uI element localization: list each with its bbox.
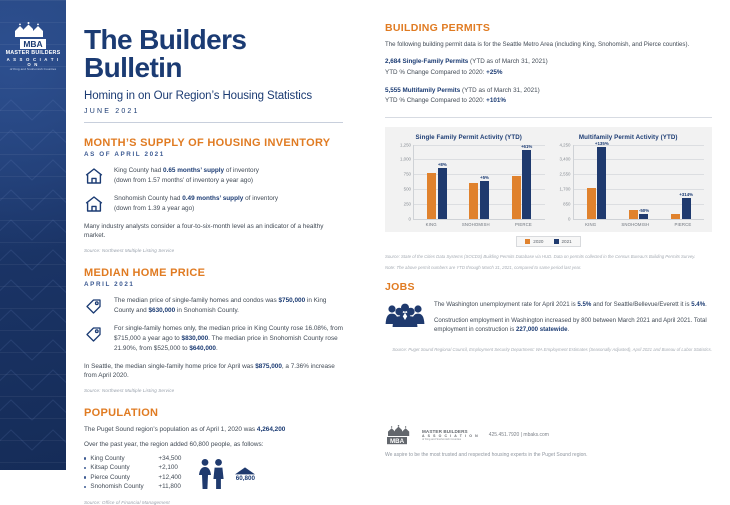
bar-group-king: +135% [587, 145, 607, 219]
brand-rail: MBA MASTER BUILDERS A S S O C I A T I O … [0, 0, 66, 470]
y-axis: 0 250 500 750 1,000 1,250 [393, 145, 413, 219]
jobs-text: The Washington unemployment rate for Apr… [434, 300, 712, 340]
y-tick: 1,700 [560, 187, 571, 192]
median-price-subheading: APRIL 2021 [84, 281, 343, 288]
footer: MBA MASTER BUILDERS A S S O C I A T I O … [385, 425, 712, 458]
page-title: The Builders Bulletin [84, 26, 343, 82]
jobs-p1-a: The Washington unemployment rate for Apr… [434, 301, 577, 308]
issue-date: JUNE 2021 [84, 108, 343, 115]
section-population: POPULATION The Puget Sound region’s popu… [84, 407, 343, 505]
sf-change-value: +25% [486, 69, 502, 76]
bar-2020 [469, 183, 478, 219]
right-page: BUILDING PERMITS The following building … [365, 0, 730, 470]
pop-county-name: King County [90, 455, 158, 462]
jobs-p1-e: . [705, 301, 707, 308]
chart-plot: 0 850 1,700 2,550 3,400 4,250 [553, 145, 705, 219]
y-tick: 0 [409, 216, 411, 221]
bar-2021: +135% [597, 147, 606, 219]
permits-source: Source: State of the Cities Data Systems… [385, 254, 712, 260]
y-tick: 0 [568, 216, 570, 221]
section-inventory: MONTH’S SUPPLY OF HOUSING INVENTORY AS O… [84, 137, 343, 253]
bar-2020 [671, 214, 680, 219]
permits-multifamily-stat: 5,555 Multifamily Permits (YTD as of Mar… [385, 86, 712, 106]
bar-label: +61% [521, 144, 532, 149]
bar-group-pierce: +314% [671, 145, 691, 219]
bar-label: +135% [595, 141, 609, 146]
footer-row: MBA MASTER BUILDERS A S S O C I A T I O … [385, 425, 712, 445]
chart-title: Single Family Permit Activity (YTD) [393, 134, 545, 141]
pop-county-name: Snohomish County [90, 483, 158, 490]
inventory-item: Snohomish County had 0.49 months’ supply… [84, 194, 343, 214]
bar-2021: +8% [438, 168, 447, 219]
median-price-heading: MEDIAN HOME PRICE [84, 267, 343, 279]
permits-single-family-stat: 2,684 Single-Family Permits (YTD as of M… [385, 57, 712, 77]
inventory-heading: MONTH’S SUPPLY OF HOUSING INVENTORY [84, 137, 343, 149]
x-axis: KING SNOHOMISH PIERCE [413, 219, 545, 227]
mp-snoho-sf-value: $640,000 [189, 345, 216, 352]
population-breakdown: King County +34,500 Kitsap County +2,100… [84, 455, 343, 493]
construction-employment-total: 227,000 statewide [516, 326, 568, 333]
pop-county-value: +12,400 [158, 474, 181, 481]
mf-permits-count: 5,555 Multifamily Permits [385, 87, 460, 94]
house-icon [84, 166, 106, 185]
y-tick: 2,550 [560, 172, 571, 177]
footer-logo-sub: of King and Snohomish Counties [422, 438, 479, 441]
plot-area: +135% -50% [573, 145, 705, 219]
legend-box: 2020 2021 [516, 236, 580, 247]
jobs-content: The Washington unemployment rate for Apr… [385, 300, 712, 340]
jobs-p1-c: and for Seattle/Bellevue/Everett it is [591, 301, 691, 308]
inventory-note: Many industry analysts consider a four-t… [84, 222, 343, 241]
jobs-source: Source: Puget Sound Regional Council, Em… [385, 347, 712, 353]
people-icon [197, 458, 227, 490]
bar-label: -50% [639, 208, 649, 213]
inventory-0-line2: (down from 1.57 months’ of inventory a y… [114, 177, 253, 184]
price-tag-icon [84, 324, 106, 342]
bar-group-pierce: +61% [512, 145, 532, 219]
jobs-heading: JOBS [385, 281, 712, 293]
metro-unemployment-rate: 5.4% [691, 301, 705, 308]
x-tick: PIERCE [674, 222, 691, 227]
mountain-icon [234, 466, 256, 475]
section-jobs: JOBS [385, 281, 712, 354]
x-tick: SNOHOMISH [621, 222, 649, 227]
x-tick: PIERCE [515, 222, 532, 227]
roofline-icon [13, 22, 53, 38]
sf-change-label: YTD % Change Compared to 2020: [385, 69, 486, 76]
inventory-1-pre: Snohomish County had [114, 195, 182, 202]
bar-group-container: +135% -50% [574, 145, 705, 219]
permits-heading: BUILDING PERMITS [385, 22, 712, 34]
bar-label: +314% [679, 192, 693, 197]
median-price-item: The median price of single-family homes … [84, 296, 343, 316]
population-county-list: King County +34,500 Kitsap County +2,100… [84, 455, 181, 493]
population-badge: 60,800 [234, 466, 256, 482]
pop-county-value: +2,100 [158, 464, 177, 471]
bar-2020 [512, 176, 521, 218]
y-tick: 1,000 [400, 157, 411, 162]
inventory-1-post: of inventory [243, 195, 278, 202]
y-tick: 1,250 [400, 142, 411, 147]
legend-item-2021: 2021 [554, 239, 572, 244]
population-total-line: The Puget Sound region’s population as o… [84, 425, 343, 435]
permits-note: Note: The above permit numbers are YTD t… [385, 265, 712, 271]
jobs-p2-c: . [567, 326, 569, 333]
permits-intro: The following building permit data is fo… [385, 40, 712, 49]
inventory-0-post: of inventory [224, 167, 259, 174]
inventory-item: King County had 0.65 months’ supply of i… [84, 166, 343, 186]
plot-area: +8% +5% [413, 145, 545, 219]
bar-2021: +61% [522, 150, 531, 219]
legend-label: 2020 [533, 239, 543, 244]
x-tick: KING [426, 222, 437, 227]
list-item: Pierce County +12,400 [84, 474, 181, 481]
price-tag-icon [84, 296, 106, 314]
mp-1a: The median price of single-family homes … [114, 297, 278, 304]
bullet-icon [84, 467, 86, 469]
pop-county-value: +34,500 [158, 455, 181, 462]
population-heading: POPULATION [84, 407, 343, 419]
wa-unemployment-rate: 5.5% [577, 301, 591, 308]
mba-logo-sub: of King and Snohomish Counties [4, 67, 62, 71]
bar-2020 [427, 173, 436, 219]
bar-label: +8% [438, 162, 447, 167]
y-tick: 500 [404, 187, 411, 192]
pop-county-name: Kitsap County [90, 464, 158, 471]
mp-note-a: In Seattle, the median single-family hom… [84, 363, 255, 370]
population-figures: 60,800 [197, 458, 256, 490]
footer-logo-text: MASTER BUILDERS A S S O C I A T I O N of… [422, 429, 479, 441]
bar-group-snohomish: +5% [469, 145, 489, 219]
jobs-unemployment: The Washington unemployment rate for Apr… [434, 300, 712, 309]
bar-label: +5% [480, 175, 489, 180]
x-tick: SNOHOMISH [462, 222, 490, 227]
legend-item-2020: 2020 [525, 239, 543, 244]
footer-contact[interactable]: 425.451.7920 | mbaks.com [489, 432, 549, 438]
inventory-subheading: AS OF APRIL 2021 [84, 151, 343, 158]
page-subtitle: Homing in on Our Region’s Housing Statis… [84, 90, 343, 102]
mba-logo-assoc: A S S O C I A T I O N [4, 57, 62, 67]
mp-1e: in Snohomish County. [175, 307, 239, 314]
x-axis: KING SNOHOMISH PIERCE [573, 219, 705, 227]
bar-2021: +5% [480, 181, 489, 219]
pop-line1-a: The Puget Sound region’s population as o… [84, 426, 257, 433]
sf-permits-count: 2,684 Single-Family Permits [385, 58, 468, 65]
inventory-0-value: 0.65 months’ supply [163, 167, 224, 174]
workers-group-icon [385, 300, 425, 333]
list-item: Snohomish County +11,800 [84, 483, 181, 490]
footer-roofline-icon: MBA [385, 425, 419, 445]
legend-swatch-icon [554, 239, 559, 244]
bullet-icon [84, 486, 86, 488]
bulletin-page: MBA MASTER BUILDERS A S S O C I A T I O … [0, 0, 730, 470]
population-source: Source: Office of Financial Management [84, 500, 343, 505]
inventory-source: Source: Northwest Multiple Listing Servi… [84, 248, 343, 253]
inventory-0-pre: King County had [114, 167, 163, 174]
house-icon [84, 194, 106, 213]
list-item: Kitsap County +2,100 [84, 464, 181, 471]
median-price-item-text: For single-family homes only, the median… [114, 324, 343, 354]
bar-2021: +314% [682, 198, 691, 219]
chart-title: Multifamily Permit Activity (YTD) [553, 134, 705, 141]
permit-charts: Single Family Permit Activity (YTD) 0 25… [385, 127, 712, 232]
bar-group-snohomish: -50% [629, 145, 649, 219]
sf-permits-paren: (YTD as of March 31, 2021) [468, 58, 547, 65]
chart-legend: 2020 2021 [385, 236, 712, 247]
pop-total-value: 4,264,200 [257, 426, 285, 433]
y-axis: 0 850 1,700 2,550 3,400 4,250 [553, 145, 573, 219]
mp-king-value: $750,000 [278, 297, 305, 304]
median-price-item-text: The median price of single-family homes … [114, 296, 343, 316]
mp-king-sf-value: $830,000 [182, 335, 209, 342]
bar-2020 [587, 188, 596, 218]
left-page: MBA MASTER BUILDERS A S S O C I A T I O … [0, 0, 365, 470]
chart-plot: 0 250 500 750 1,000 1,250 [393, 145, 545, 219]
left-content: The Builders Bulletin Homing in on Our R… [66, 0, 365, 470]
svg-text:MBA: MBA [390, 438, 405, 445]
median-price-source: Source: Northwest Multiple Listing Servi… [84, 388, 343, 393]
svg-text:MBA: MBA [23, 39, 42, 49]
jobs-p2-a: Construction employment in Washington in… [434, 317, 707, 333]
list-item: King County +34,500 [84, 455, 181, 462]
mp-seattle-value: $875,000 [255, 363, 282, 370]
chart-multifamily: Multifamily Permit Activity (YTD) 0 850 … [553, 134, 705, 227]
bar-2020 [629, 210, 638, 219]
legend-label: 2021 [562, 239, 572, 244]
mf-change-label: YTD % Change Compared to 2020: [385, 97, 486, 104]
median-price-note: In Seattle, the median single-family hom… [84, 362, 343, 381]
population-badge-value: 60,800 [234, 475, 256, 482]
inventory-1-value: 0.49 months’ supply [182, 195, 243, 202]
bullet-icon [84, 476, 86, 478]
permits-divider [385, 117, 712, 118]
bullet-icon [84, 457, 86, 459]
masthead-divider [84, 122, 343, 123]
legend-swatch-icon [525, 239, 530, 244]
population-growth-line: Over the past year, the region added 60,… [84, 440, 343, 450]
y-tick: 3,400 [560, 157, 571, 162]
section-median-price: MEDIAN HOME PRICE APRIL 2021 The median … [84, 267, 343, 393]
mp-2e: . [216, 345, 218, 352]
x-tick: KING [585, 222, 596, 227]
inventory-1-line2: (down from 1.39 a year ago) [114, 205, 194, 212]
footer-tagline: We aspire to be the most trusted and res… [385, 452, 712, 458]
mba-logo: MBA MASTER BUILDERS A S S O C I A T I O … [4, 22, 62, 71]
pop-county-value: +11,800 [158, 483, 180, 490]
chart-single-family: Single Family Permit Activity (YTD) 0 25… [393, 134, 545, 227]
median-price-item: For single-family homes only, the median… [84, 324, 343, 354]
mf-permits-paren: (YTD as of March 31, 2021) [460, 87, 539, 94]
mf-change-value: +101% [486, 97, 506, 104]
footer-mba-logo: MBA MASTER BUILDERS A S S O C I A T I O … [385, 425, 479, 445]
y-tick: 4,250 [560, 142, 571, 147]
bar-group-king: +8% [427, 145, 447, 219]
bar-2021: -50% [639, 214, 648, 218]
y-tick: 250 [404, 201, 411, 206]
y-tick: 750 [404, 172, 411, 177]
jobs-construction: Construction employment in Washington in… [434, 316, 712, 335]
mba-logo-name: MASTER BUILDERS [4, 50, 62, 57]
y-tick: 850 [563, 201, 570, 206]
mba-monogram-icon: MBA [20, 39, 46, 49]
mp-snoho-value: $630,000 [148, 307, 175, 314]
inventory-item-text: King County had 0.65 months’ supply of i… [114, 166, 259, 186]
pop-county-name: Pierce County [90, 474, 158, 481]
inventory-item-text: Snohomish County had 0.49 months’ supply… [114, 194, 278, 214]
bar-group-container: +8% +5% [414, 145, 545, 219]
